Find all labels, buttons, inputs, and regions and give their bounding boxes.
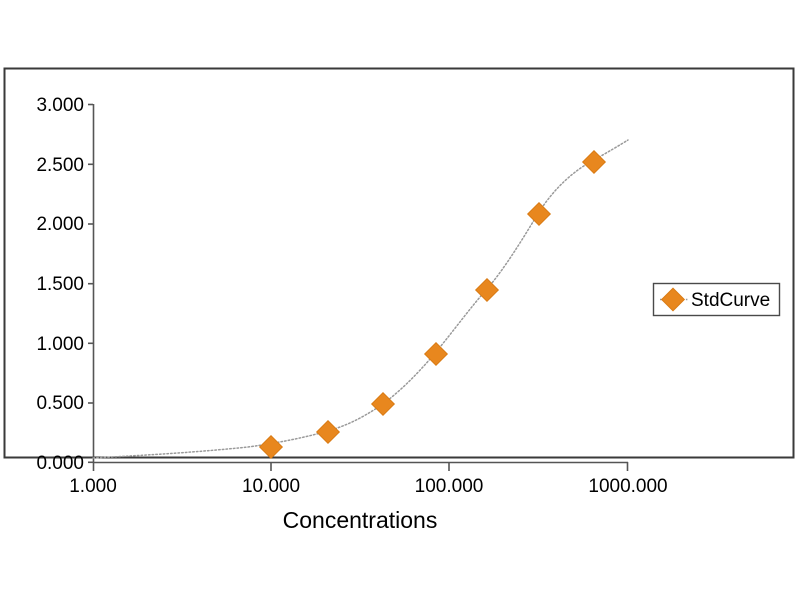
standard-curve-chart: 3.000 2.500 2.000 1.500 1.000 0.500 0.00… xyxy=(0,0,800,600)
chart-container: 3.000 2.500 2.000 1.500 1.000 0.500 0.00… xyxy=(0,0,800,600)
y-tick-label: 2.000 xyxy=(36,214,84,235)
x-tick-label: 1000.000 xyxy=(588,476,667,497)
x-tick-label: 1.000 xyxy=(69,476,117,497)
y-tick-label: 1.500 xyxy=(36,274,84,295)
y-tick-label: 0.000 xyxy=(36,453,84,474)
x-axis-ticks xyxy=(94,462,628,471)
x-axis-title: Concentrations xyxy=(283,507,438,533)
y-tick-label: 3.000 xyxy=(36,95,84,116)
chart-legend[interactable]: StdCurve xyxy=(654,284,780,316)
y-tick-label: 0.500 xyxy=(36,393,84,414)
y-tick-label: 1.000 xyxy=(36,334,84,355)
x-tick-label: 100.000 xyxy=(415,476,484,497)
y-tick-label: 2.500 xyxy=(36,155,84,176)
x-axis-tick-labels: 1.000 10.000 100.000 1000.000 xyxy=(69,476,667,497)
legend-item-label: StdCurve xyxy=(691,290,770,311)
x-tick-label: 10.000 xyxy=(242,476,300,497)
chart-frame xyxy=(5,69,794,458)
